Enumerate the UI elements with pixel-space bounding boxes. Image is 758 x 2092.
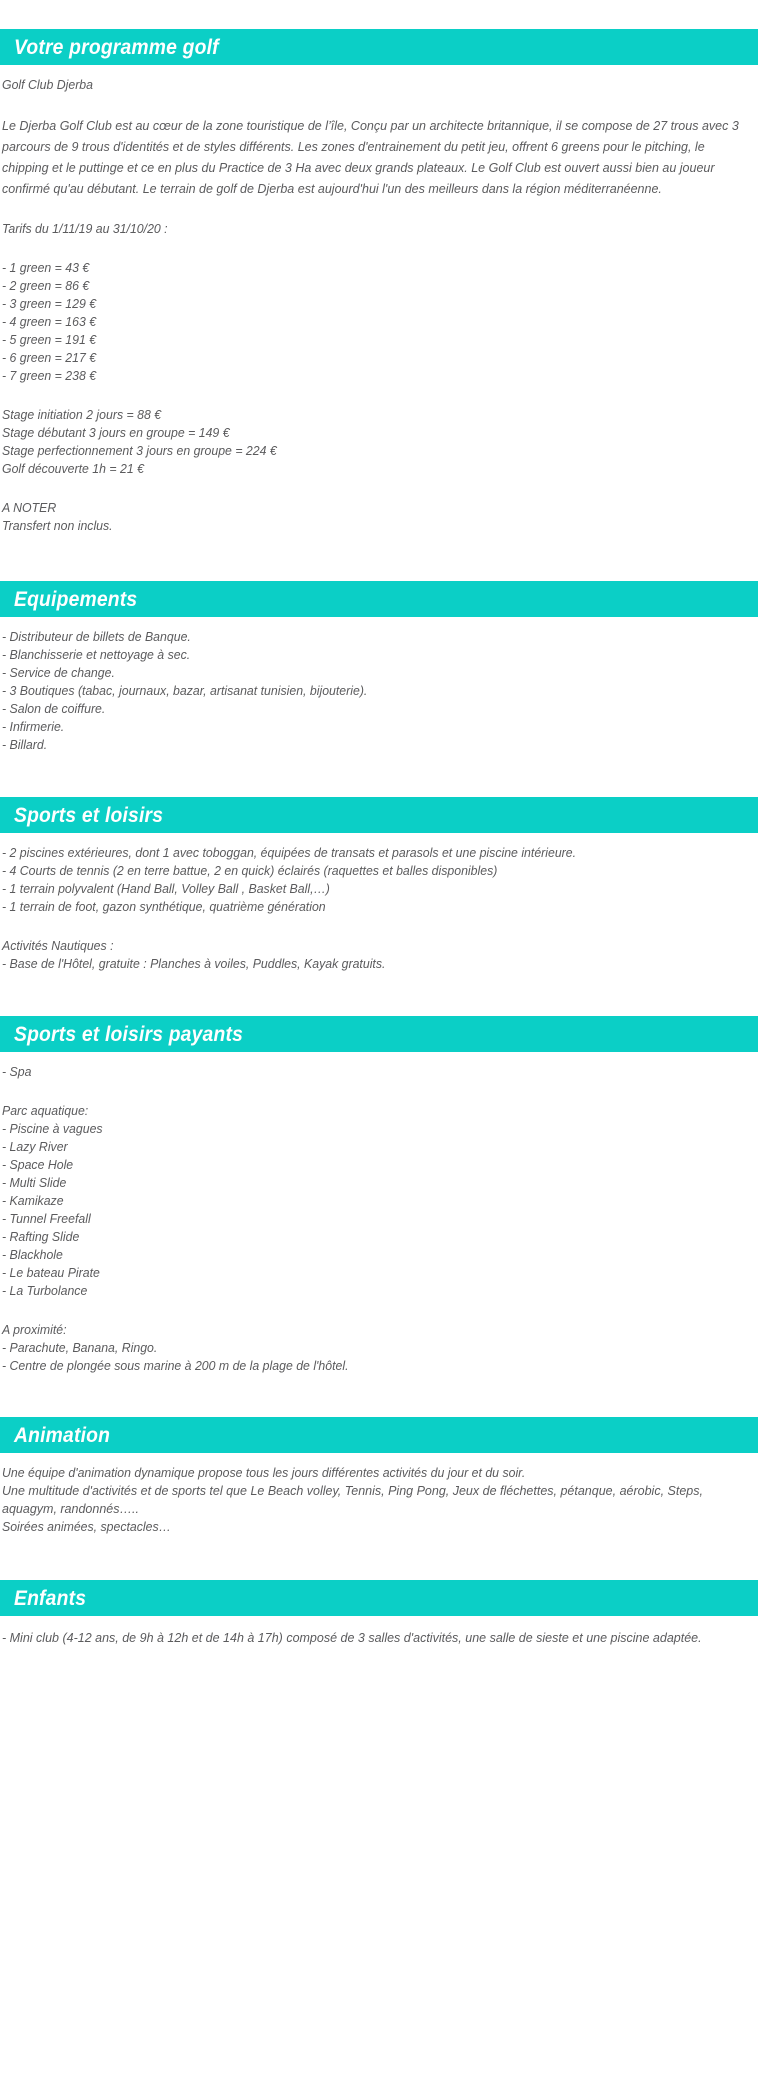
list-item: - Infirmerie. [2,718,707,736]
list-item: - Billard. [2,736,707,754]
list-item: - Blackhole [2,1246,707,1264]
list-item-mini-club: - Mini club (4-12 ans, de 9h à 12h et de… [2,1627,747,1648]
section-title: Votre programme golf [14,37,219,58]
spacer [0,973,758,1016]
section-body-sports-et-loisirs-payants: - Spa Parc aquatique: - Piscine à vagues… [0,1052,758,1375]
list-item: - 1 terrain de foot, gazon synthétique, … [2,898,707,916]
spacer [2,1081,752,1102]
list-item: - Space Hole [2,1156,707,1174]
section-title: Animation [14,1425,110,1446]
list-item: - Blanchisserie et nettoyage à sec. [2,646,707,664]
list-item: - Salon de coiffure. [2,700,707,718]
list-item: - Distributeur de billets de Banque. [2,628,707,646]
spacer [2,238,752,259]
list-item: - Kamikaze [2,1192,707,1210]
list-item: - 3 Boutiques (tabac, journaux, bazar, a… [2,682,707,700]
document-page: Votre programme golf Golf Club Djerba Le… [0,0,758,2092]
spacer [2,478,752,499]
spacer [0,754,758,797]
list-item: - La Turbolance [2,1282,707,1300]
text-line-green-5: - 5 green = 191 € [2,331,707,349]
text-line-green-6: - 6 green = 217 € [2,349,707,367]
text-line-transfert: Transfert non inclus. [2,517,707,535]
list-item: - Multi Slide [2,1174,707,1192]
section-body-sports-et-loisirs: - 2 piscines extérieures, dont 1 avec to… [0,833,758,973]
section-body-enfants: - Mini club (4-12 ans, de 9h à 12h et de… [0,1616,758,1648]
text-line-stage-debutant: Stage débutant 3 jours en groupe = 149 € [2,424,707,442]
section-header-votre-programme-golf: Votre programme golf [0,29,758,65]
top-spacer [0,0,758,29]
list-item: - Le bateau Pirate [2,1264,707,1282]
text-line-stage-initiation: Stage initiation 2 jours = 88 € [2,406,707,424]
spacer [0,535,758,581]
text-line-green-1: - 1 green = 43 € [2,259,707,277]
section-title: Sports et loisirs payants [14,1024,243,1045]
section-header-enfants: Enfants [0,1580,758,1616]
text-line-green-2: - 2 green = 86 € [2,277,707,295]
section-header-sports-et-loisirs: Sports et loisirs [0,797,758,833]
text-line: Soirées animées, spectacles… [2,1518,707,1536]
list-item: - Rafting Slide [2,1228,707,1246]
list-item: - Piscine à vagues [2,1120,707,1138]
list-item: - 4 Courts de tennis (2 en terre battue,… [2,862,707,880]
paragraph-description: Le Djerba Golf Club est au cœur de la zo… [2,115,747,199]
text-line: Golf Club Djerba [2,76,707,94]
spacer [2,916,752,937]
text-line-green-4: - 4 green = 163 € [2,313,707,331]
spacer [0,1375,758,1417]
list-item: - 2 piscines extérieures, dont 1 avec to… [2,844,707,862]
text-line-green-7: - 7 green = 238 € [2,367,707,385]
subheading-activites-nautiques: Activités Nautiques : [2,937,707,955]
list-item: - 1 terrain polyvalent (Hand Ball, Volle… [2,880,707,898]
spacer [0,1536,758,1580]
spacer [2,1300,752,1321]
list-item: - Lazy River [2,1138,707,1156]
spacer [2,199,752,220]
paragraph-activities: Une multitude d'activités et de sports t… [2,1482,747,1518]
list-item: - Base de l'Hôtel, gratuite : Planches à… [2,955,707,973]
list-item-spa: - Spa [2,1063,707,1081]
list-item: - Service de change. [2,664,707,682]
section-title: Equipements [14,589,137,610]
section-header-animation: Animation [0,1417,758,1453]
subheading-a-proximite: A proximité: [2,1321,707,1339]
text-line-green-3: - 3 green = 129 € [2,295,707,313]
list-item: - Centre de plongée sous marine à 200 m … [2,1357,707,1375]
text-line-stage-perfectionnement: Stage perfectionnement 3 jours en groupe… [2,442,707,460]
list-item: - Parachute, Banana, Ringo. [2,1339,707,1357]
section-header-sports-et-loisirs-payants: Sports et loisirs payants [0,1016,758,1052]
text-line-golf-decouverte: Golf découverte 1h = 21 € [2,460,707,478]
text-line-a-noter: A NOTER [2,499,707,517]
section-title: Sports et loisirs [14,805,163,826]
spacer [2,94,752,115]
section-header-equipements: Equipements [0,581,758,617]
list-item: - Tunnel Freefall [2,1210,707,1228]
text-line: Une équipe d'animation dynamique propose… [2,1464,707,1482]
section-body-animation: Une équipe d'animation dynamique propose… [0,1453,758,1536]
subheading-parc-aquatique: Parc aquatique: [2,1102,707,1120]
text-line-tarifs-period: Tarifs du 1/11/19 au 31/10/20 : [2,220,707,238]
section-body-equipements: - Distributeur de billets de Banque. - B… [0,617,758,754]
section-title: Enfants [14,1588,86,1609]
section-body-votre-programme-golf: Golf Club Djerba Le Djerba Golf Club est… [0,65,758,535]
spacer [2,385,752,406]
